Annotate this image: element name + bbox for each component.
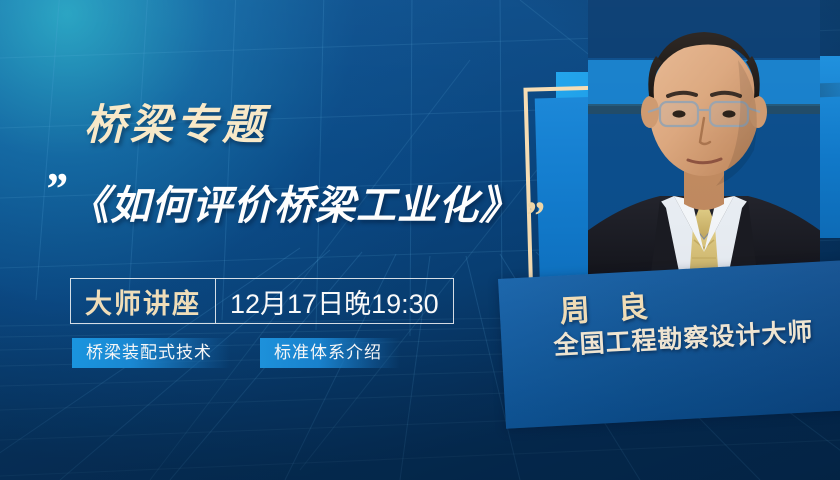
speaker-nameplate-text: 周 良 全国工程勘察设计大师 (498, 259, 840, 429)
lecture-poster: 周 良 全国工程勘察设计大师 桥梁专题 ” 《如何评价桥梁工业化》 ” 大师讲座… (0, 0, 840, 480)
topic-tag-1: 桥梁装配式技术 (72, 338, 230, 368)
headline-block: 桥梁专题 (84, 104, 268, 146)
quote-open-mark: ” (44, 166, 67, 212)
headline-topic: 桥梁专题 (84, 104, 268, 146)
quote-close-mark: ” (524, 196, 544, 236)
headline-subtitle: 《如何评价桥梁工业化》 (69, 186, 520, 226)
topic-tag-2: 标准体系介绍 (260, 338, 400, 368)
topic-tag-list: 桥梁装配式技术 标准体系介绍 (72, 338, 400, 368)
info-bar: 大师讲座 12月17日晚19:30 (70, 278, 454, 324)
lecture-datetime: 12月17日晚19:30 (216, 279, 453, 323)
headline-subtitle-row: ” 《如何评价桥梁工业化》 ” (44, 166, 544, 226)
lecture-type-label: 大师讲座 (71, 279, 216, 323)
speaker-portrait (588, 0, 820, 296)
